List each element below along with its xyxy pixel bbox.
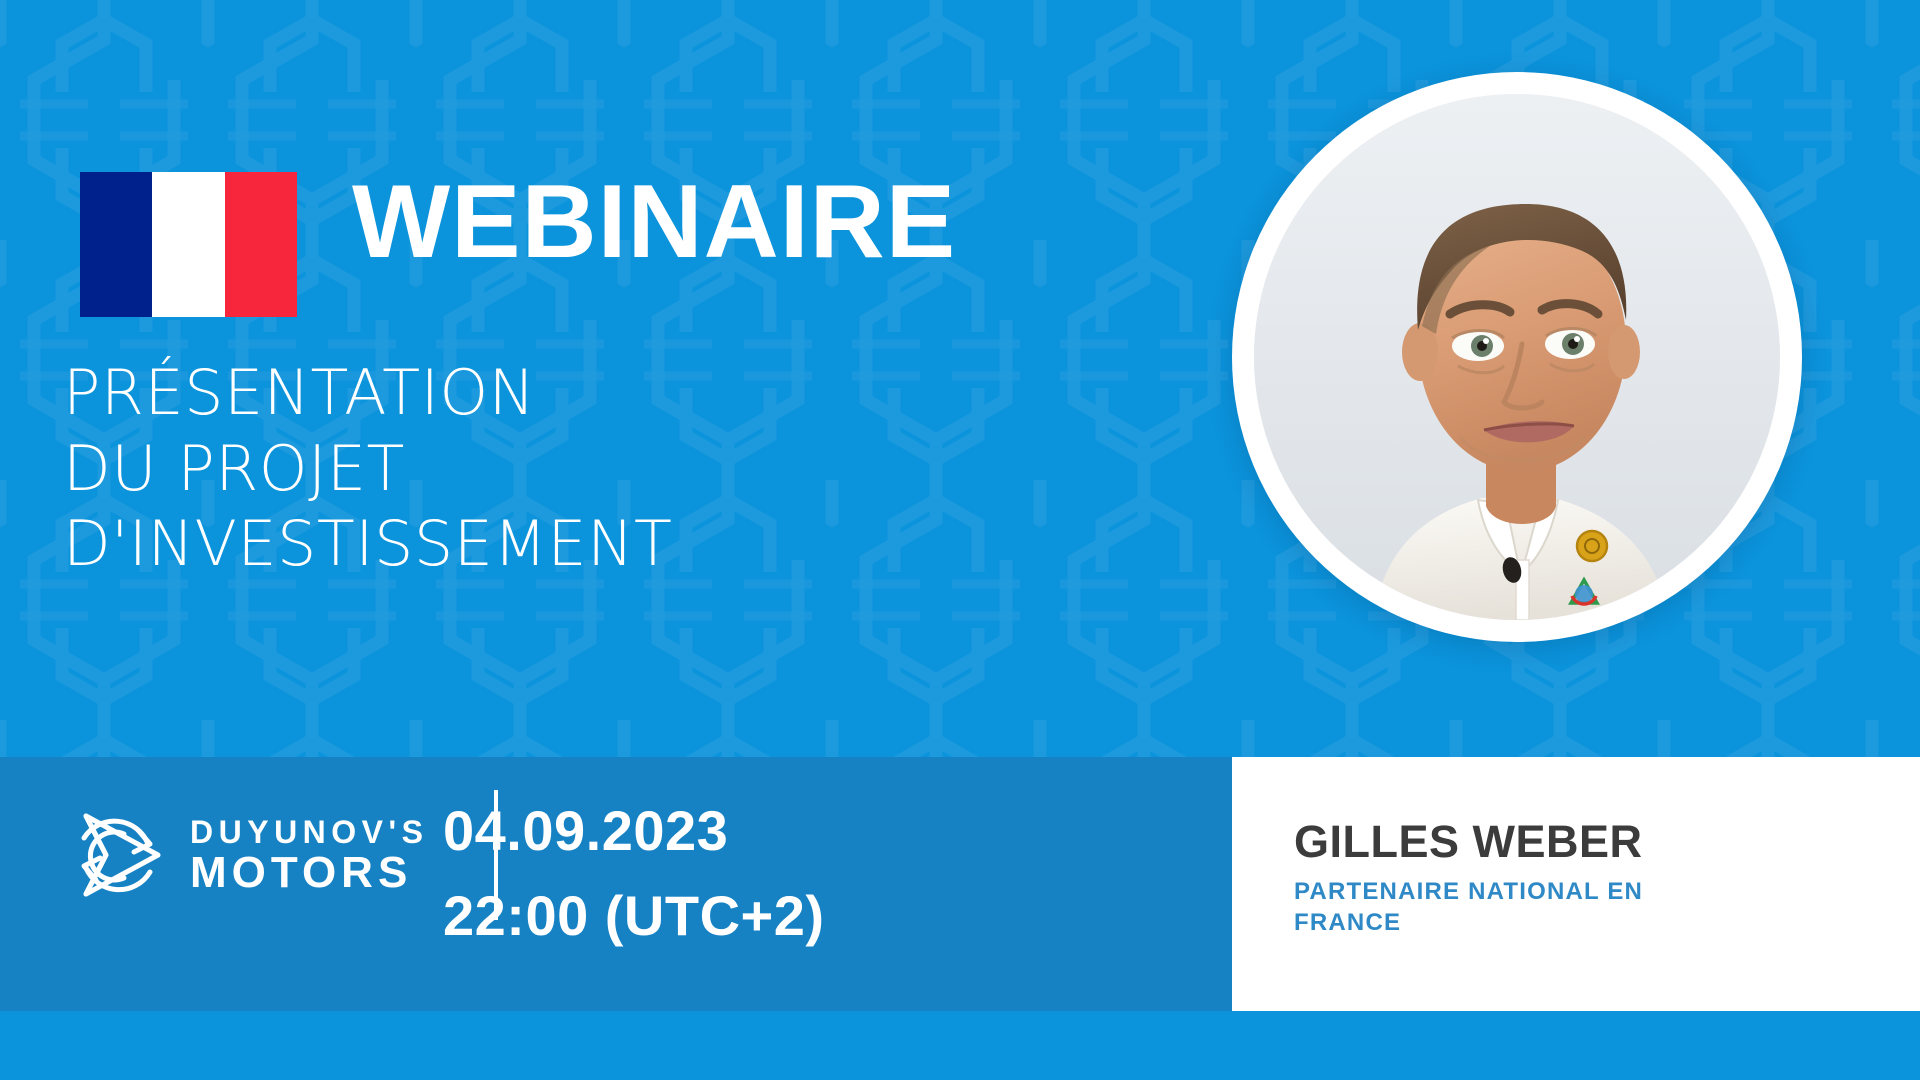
- subtitle-block: PRÉSENTATION DU PROJET D'INVESTISSEMENT: [63, 355, 672, 582]
- bottom-strip: [0, 1011, 1920, 1080]
- speaker-role: PARTENAIRE NATIONAL EN FRANCE: [1294, 876, 1724, 938]
- subtitle-line-1: PRÉSENTATION: [63, 355, 672, 431]
- speaker-portrait: [1232, 72, 1802, 642]
- event-time: 22:00 (UTC+2): [443, 873, 825, 958]
- poster-canvas: WEBINAIRE PRÉSENTATION DU PROJET D'INVES…: [0, 0, 1920, 1080]
- hero-section: WEBINAIRE PRÉSENTATION DU PROJET D'INVES…: [0, 0, 1920, 757]
- brand-name-line-2: MOTORS: [190, 851, 428, 895]
- flag-band-blue: [80, 172, 152, 317]
- brand-logo[interactable]: DUYUNOV'S MOTORS: [62, 800, 428, 910]
- portrait-illustration: [1254, 94, 1780, 620]
- event-date: 04.09.2023: [443, 788, 825, 873]
- duyunov-rotor-arrow-icon: [62, 800, 172, 910]
- speaker-card: GILLES WEBER PARTENAIRE NATIONAL EN FRAN…: [1232, 757, 1920, 1011]
- portrait-photo: [1254, 94, 1780, 620]
- schedule-block: 04.09.2023 22:00 (UTC+2): [443, 788, 825, 958]
- page-title: WEBINAIRE: [352, 170, 956, 274]
- france-flag-icon: [80, 172, 297, 317]
- brand-name-line-1: DUYUNOV'S: [190, 816, 428, 848]
- speaker-name: GILLES WEBER: [1294, 819, 1920, 864]
- flag-band-white: [152, 172, 224, 317]
- brand-logo-text: DUYUNOV'S MOTORS: [190, 816, 428, 895]
- subtitle-line-3: D'INVESTISSEMENT: [63, 506, 672, 582]
- subtitle-line-2: DU PROJET: [63, 431, 672, 507]
- flag-band-red: [225, 172, 297, 317]
